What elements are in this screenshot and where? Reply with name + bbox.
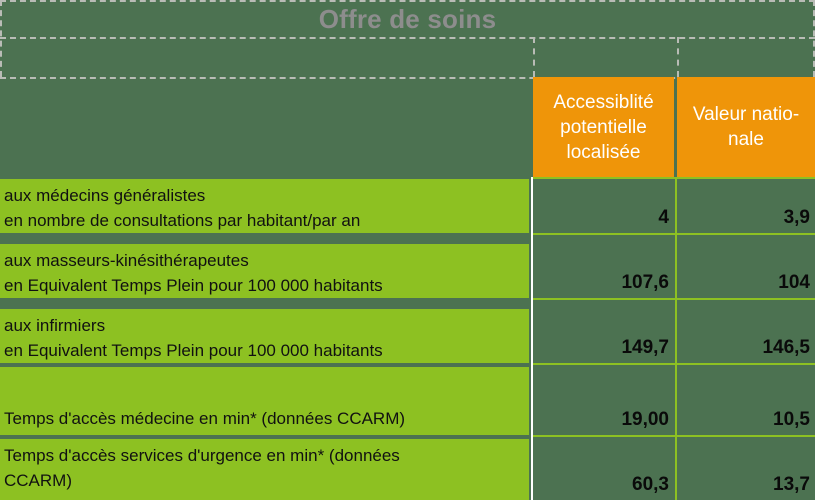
row-label-line-1: aux infirmiers (4, 313, 523, 338)
apl-header-line-3: localisée (567, 142, 641, 163)
label-column-divider (531, 177, 533, 500)
column-header-national-text: Valeur natio- nale (693, 102, 799, 152)
value-grid-rule (533, 233, 815, 235)
dashed-rule-title-bottom (0, 37, 815, 39)
row-value-apl: 19,00 (533, 367, 674, 435)
value-grid-rule (533, 298, 815, 300)
dashed-rule-col2 (677, 37, 679, 77)
dashed-rule-col1 (533, 37, 535, 77)
row-label-line-1: aux masseurs-kinésithérapeutes (4, 248, 523, 273)
apl-header-line-2: potentielle (560, 117, 647, 138)
value-column-divider (675, 177, 677, 500)
column-header-apl: Accessiblité potentielle localisée (533, 77, 674, 177)
row-label-line-1: Temps d'accès médecine en min* (données … (4, 406, 523, 431)
value-grid-rule (533, 435, 815, 437)
row-label-line-2: CCARM) (4, 468, 523, 493)
row-label: Temps d'accès services d'urgence en min*… (0, 439, 529, 500)
value-grid-rule (533, 363, 815, 365)
row-label: aux médecins généralistes en nombre de c… (0, 179, 529, 233)
table-row: Temps d'accès services d'urgence en min*… (0, 439, 815, 500)
row-label: aux masseurs-kinésithérapeutes en Equiva… (0, 244, 529, 298)
national-header-line-2: nale (728, 129, 764, 150)
column-header-national: Valeur natio- nale (677, 77, 815, 177)
column-header-apl-text: Accessiblité potentielle localisée (553, 90, 653, 165)
row-value-apl: 60,3 (533, 439, 674, 500)
row-value-national: 3,9 (677, 179, 815, 233)
row-value-national: 146,5 (677, 309, 815, 363)
row-value-apl: 4 (533, 179, 674, 233)
table-title-row: Offre de soins (0, 0, 815, 37)
row-value-national: 13,7 (677, 439, 815, 500)
row-label: Temps d'accès médecine en min* (données … (0, 367, 529, 435)
table-row: aux médecins généralistes en nombre de c… (0, 179, 815, 233)
table-row: Temps d'accès médecine en min* (données … (0, 367, 815, 435)
row-value-apl: 149,7 (533, 309, 674, 363)
value-grid-rule (533, 177, 815, 179)
row-value-apl: 107,6 (533, 244, 674, 298)
row-label-line-1: aux médecins généralistes (4, 183, 523, 208)
row-value-national: 104 (677, 244, 815, 298)
row-label: aux infirmiers en Equivalent Temps Plein… (0, 309, 529, 363)
national-header-line-1: Valeur natio- (693, 104, 799, 125)
row-value-national: 10,5 (677, 367, 815, 435)
page-title: Offre de soins (319, 6, 497, 32)
apl-header-line-1: Accessiblité (553, 92, 653, 113)
row-label-line-2: en nombre de consultations par habitant/… (4, 208, 523, 233)
offre-de-soins-table: Offre de soins Accessiblité potentielle … (0, 0, 815, 500)
table-row: aux masseurs-kinésithérapeutes en Equiva… (0, 244, 815, 298)
row-label-line-2: en Equivalent Temps Plein pour 100 000 h… (4, 338, 523, 363)
row-label-line-2: en Equivalent Temps Plein pour 100 000 h… (4, 273, 523, 298)
table-row: aux infirmiers en Equivalent Temps Plein… (0, 309, 815, 363)
row-label-line-1: Temps d'accès services d'urgence en min*… (4, 443, 523, 468)
